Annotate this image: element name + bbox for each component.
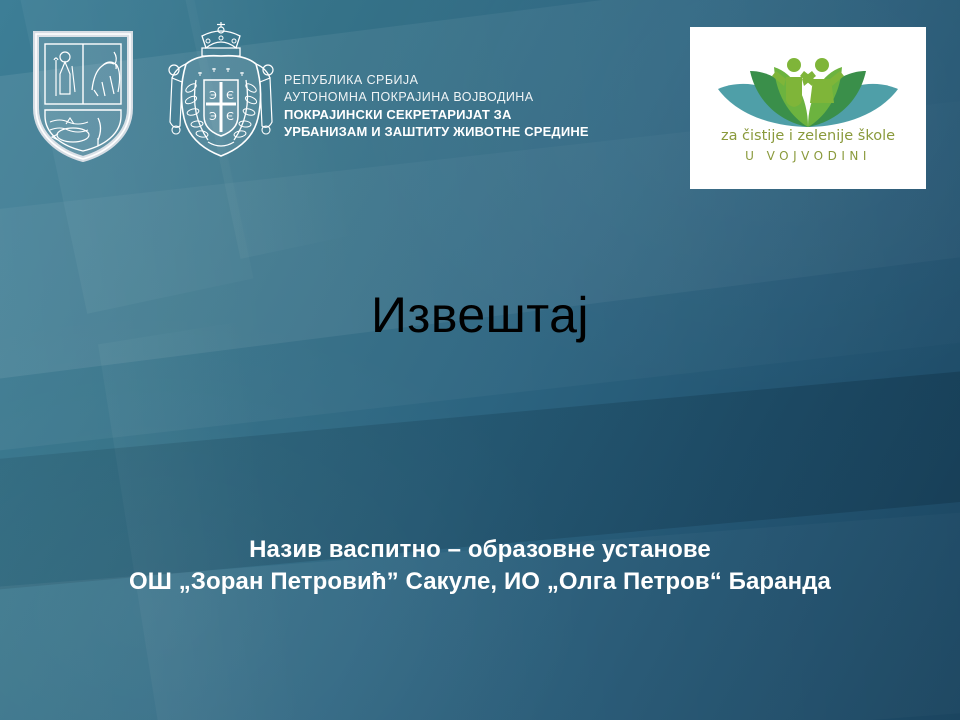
ministry-line-3: ПОКРАЈИНСКИ СЕКРЕТАРИЈАТ ЗА	[284, 106, 589, 123]
subtitle-line-institution-label: Назив васпитно – образовне установе	[0, 534, 960, 566]
subtitle-line-institution-name: ОШ „Зоран Петровић” Сакуле, ИО „Олга Пет…	[0, 566, 960, 598]
slide-title: Извештај	[0, 286, 960, 344]
slide-subtitle-block: Назив васпитно – образовне установе ОШ „…	[0, 534, 960, 598]
ministry-line-2: АУТОНОМНА ПОКРАЈИНА ВОЈВОДИНА	[284, 89, 589, 106]
eco-schools-logo: za čistije i zelenije škole U VOJVODINI	[690, 27, 926, 189]
eco-logo-caption-secondary: U VOJVODINI	[690, 149, 926, 163]
svg-text:Э: Э	[209, 110, 217, 123]
presentation-slide: Э Є Э Є РЕПУБЛИКА СРБИЈА АУТОНОМНА ПОКРА…	[0, 0, 960, 720]
svg-text:Э: Э	[209, 89, 217, 102]
vojvodina-coat-of-arms-icon	[28, 30, 138, 162]
svg-text:Є: Є	[226, 110, 234, 123]
ministry-text-block: РЕПУБЛИКА СРБИЈА АУТОНОМНА ПОКРАЈИНА ВОЈ…	[284, 72, 589, 140]
serbia-coat-of-arms-icon: Э Є Э Є	[156, 18, 286, 170]
svg-text:Є: Є	[226, 89, 234, 102]
background-glow-left	[0, 300, 600, 720]
eco-logo-graphic	[690, 27, 926, 189]
ministry-line-1: РЕПУБЛИКА СРБИЈА	[284, 72, 589, 89]
background-diagonal-band-lower	[0, 490, 960, 720]
eco-logo-caption-primary: za čistije i zelenije škole	[690, 128, 926, 144]
background-stripe-3	[98, 321, 312, 720]
ministry-line-4: УРБАНИЗАМ И ЗАШТИТУ ЖИВОТНЕ СРЕДИНЕ	[284, 123, 589, 140]
